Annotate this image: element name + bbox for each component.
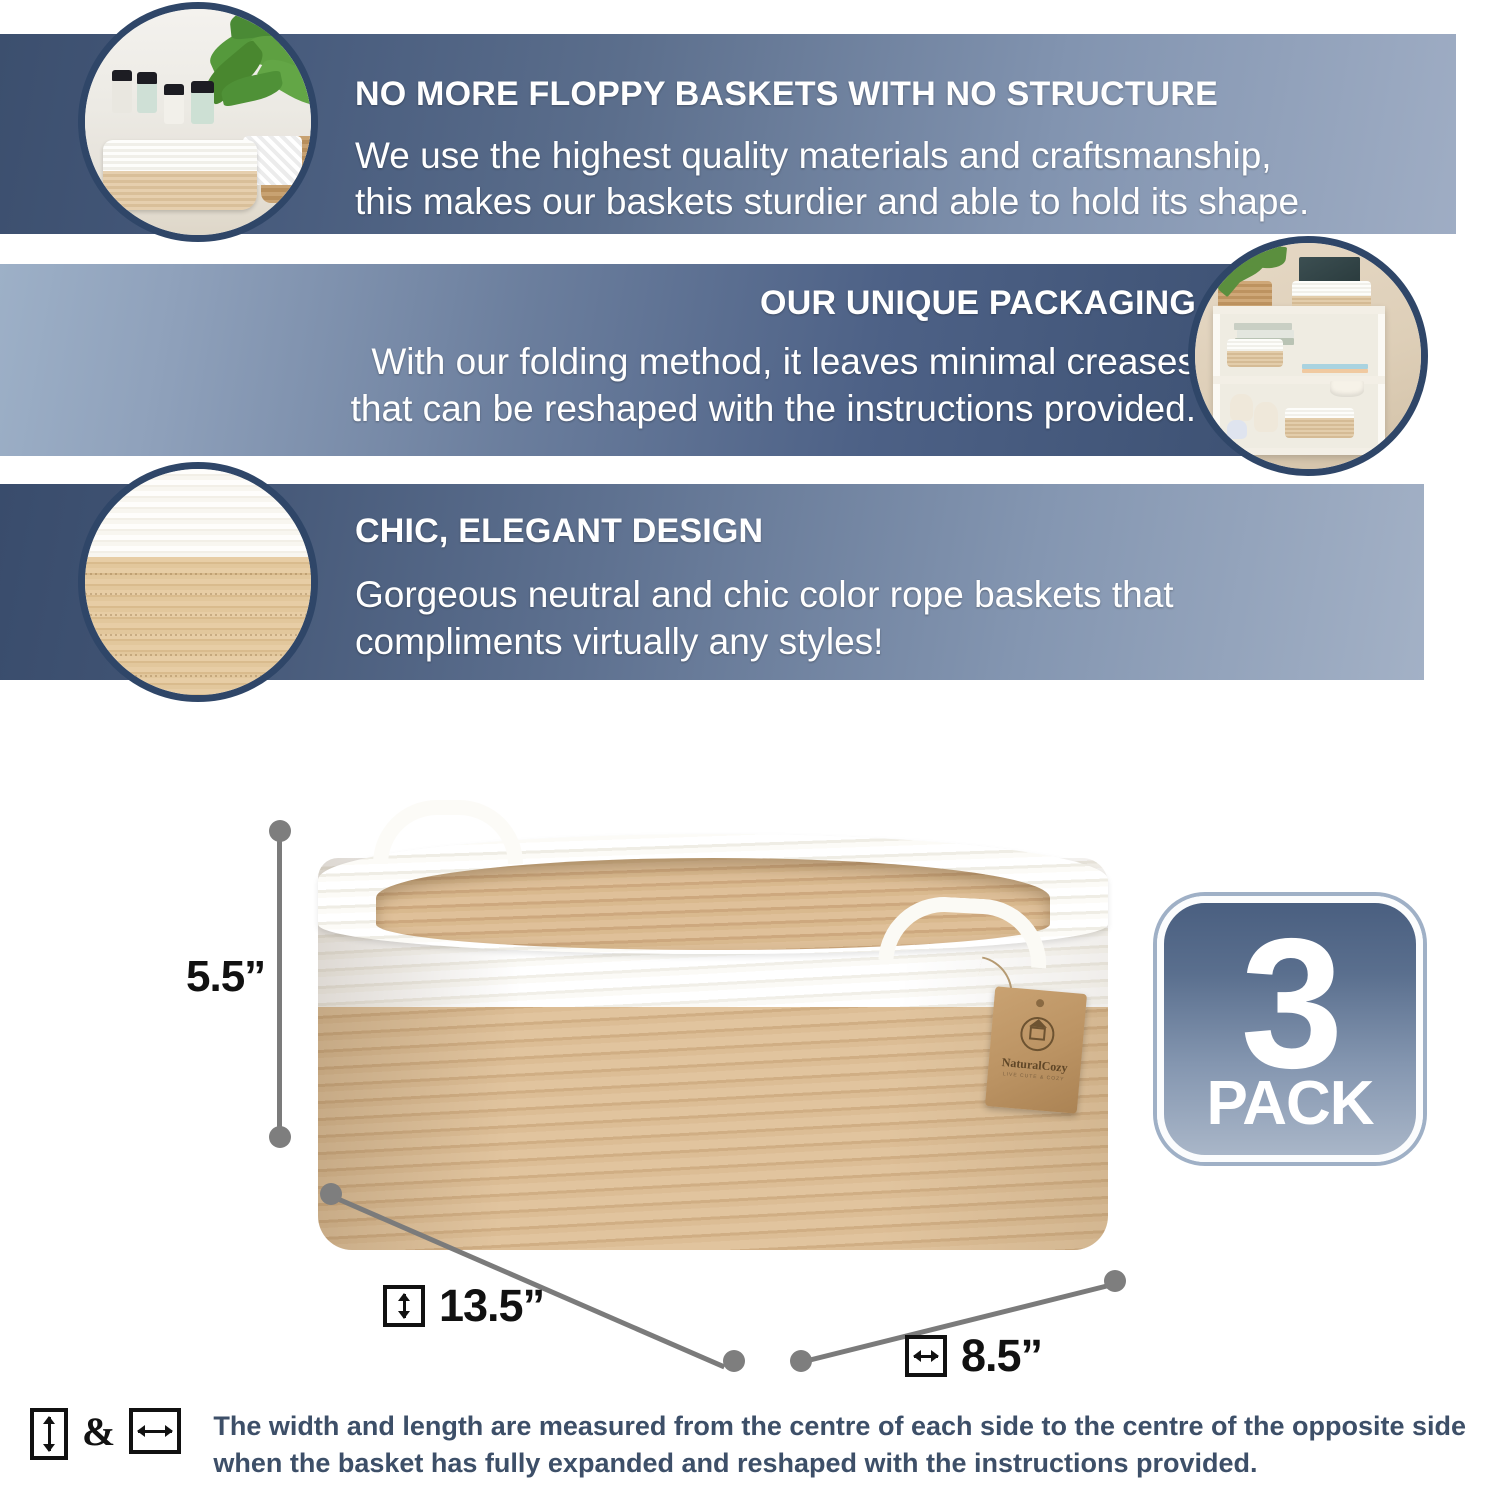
feature-body-line2-packaging: that can be reshaped with the instructio… — [186, 385, 1196, 432]
feature-heading-packaging: OUR UNIQUE PACKAGING — [186, 282, 1196, 324]
feature-heading-design: CHIC, ELEGANT DESIGN — [355, 511, 1385, 551]
feature-body-line1-design: Gorgeous neutral and chic color rope bas… — [355, 571, 1385, 618]
feature-body-line1-packaging: With our folding method, it leaves minim… — [186, 338, 1196, 385]
shelf-unit — [1213, 306, 1385, 455]
feature-heading-structure: NO MORE FLOPPY BASKETS WITH NO STRUCTURE — [355, 74, 1400, 114]
length-dimension-value: 13.5” — [439, 1280, 544, 1332]
horizontal-arrow-icon — [129, 1408, 181, 1454]
vertical-arrow-icon — [30, 1408, 68, 1460]
feature-body-line1-structure: We use the highest quality materials and… — [355, 133, 1400, 179]
footnote-ampersand: & — [82, 1408, 115, 1456]
width-dimension-endpoint-start — [790, 1350, 812, 1372]
height-dimension-endpoint-bottom — [269, 1126, 291, 1148]
rope-basket-illustration — [1285, 408, 1354, 438]
bottle — [191, 88, 214, 124]
pack-count-label: PACK — [1164, 1073, 1416, 1135]
feature-banner-packaging: OUR UNIQUE PACKAGING With our folding me… — [0, 264, 1244, 456]
feature-image-design — [78, 462, 318, 702]
length-dimension-label: 13.5” — [383, 1280, 544, 1332]
width-dimension-value: 8.5” — [961, 1330, 1042, 1382]
bottle — [164, 90, 184, 124]
feature-body-line2-structure: this makes our baskets sturdier and able… — [355, 179, 1400, 225]
rope-basket-illustration — [1227, 339, 1284, 367]
height-dimension-line — [277, 830, 282, 1136]
vertical-arrow-icon — [383, 1285, 425, 1327]
ginger-jar — [1227, 420, 1248, 439]
height-dimension-label: 5.5” — [186, 952, 265, 1002]
horizontal-arrow-icon — [905, 1335, 947, 1377]
feature-image-packaging — [1188, 236, 1428, 476]
basket-handle-left — [373, 800, 523, 864]
brand-hang-tag: NaturalCozy LIVE CUTE & COZY — [985, 986, 1087, 1114]
measurement-footnote: & The width and length are measured from… — [30, 1408, 1470, 1482]
vase — [1254, 402, 1278, 432]
feature-image-structure — [78, 2, 318, 242]
rope-basket-illustration — [103, 140, 257, 210]
height-dimension-endpoint-top — [269, 820, 291, 842]
ceramic-bowl — [1330, 381, 1364, 397]
vase — [1230, 394, 1252, 421]
footnote-text: The width and length are measured from t… — [213, 1408, 1470, 1482]
natural-cozy-logo-icon — [1019, 1016, 1056, 1053]
width-dimension-label: 8.5” — [905, 1330, 1042, 1382]
length-dimension-endpoint-start — [320, 1183, 342, 1205]
product-photo-basket: NaturalCozy LIVE CUTE & COZY — [318, 800, 1108, 1250]
tag-hole — [1036, 999, 1045, 1008]
bottle — [112, 77, 132, 113]
length-dimension-endpoint-end — [723, 1350, 745, 1372]
feature-body-line2-design: compliments virtually any styles! — [355, 618, 1385, 665]
bottle — [137, 79, 157, 113]
width-dimension-endpoint-end — [1104, 1270, 1126, 1292]
pack-count-badge: 3 PACK — [1157, 896, 1423, 1162]
